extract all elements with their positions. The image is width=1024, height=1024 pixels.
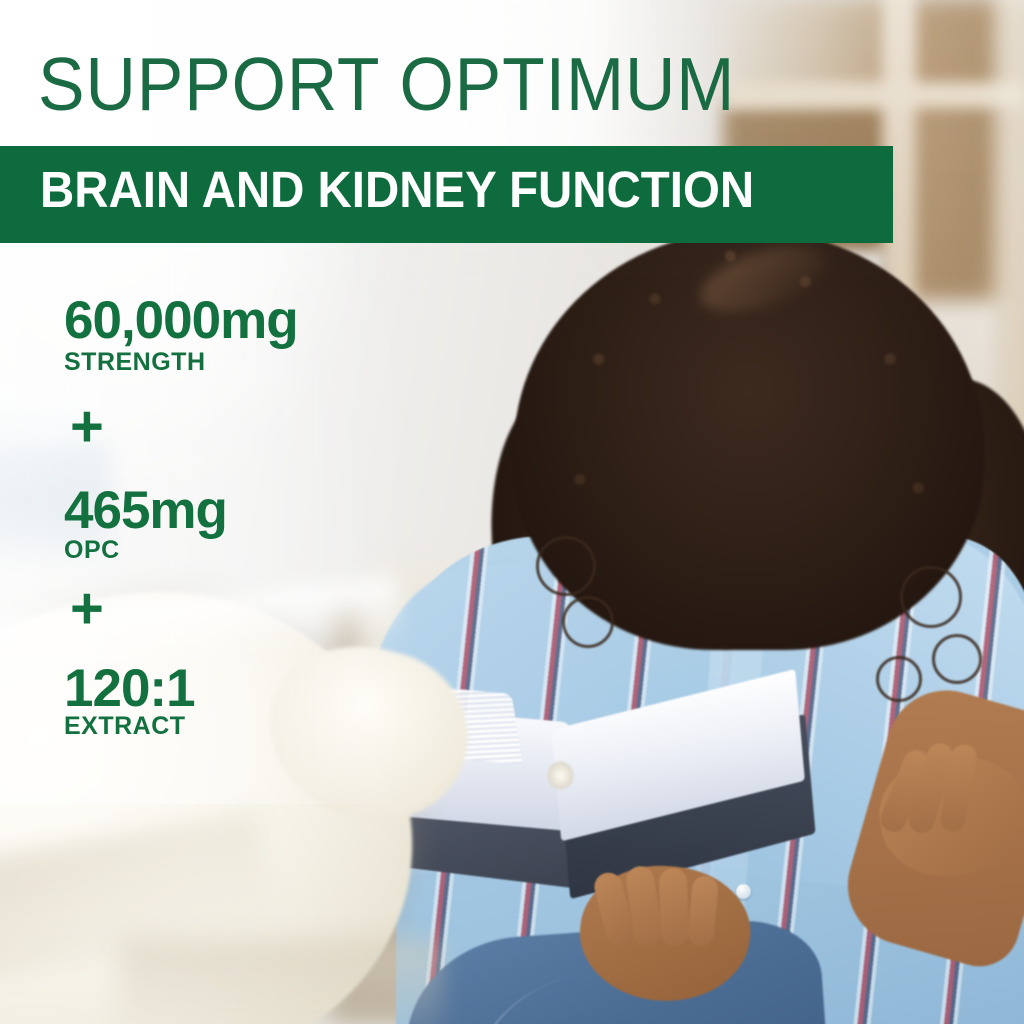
stat-value-opc: 465mg xyxy=(64,484,227,537)
stat-label-strength: STRENGTH xyxy=(64,350,206,375)
plus-icon: + xyxy=(70,398,104,456)
page-title: SUPPORT OPTIMUM xyxy=(38,47,735,122)
stat-value-extract: 120:1 xyxy=(64,662,195,715)
stat-value-strength: 60,000mg xyxy=(64,294,298,347)
plus-icon: + xyxy=(70,580,104,638)
stat-label-opc: OPC xyxy=(64,538,120,563)
banner-title: BRAIN AND KIDNEY FUNCTION xyxy=(40,164,754,215)
stat-label-extract: EXTRACT xyxy=(64,714,186,739)
product-marketing-image: SUPPORT OPTIMUM BRAIN AND KIDNEY FUNCTIO… xyxy=(0,0,1024,1024)
